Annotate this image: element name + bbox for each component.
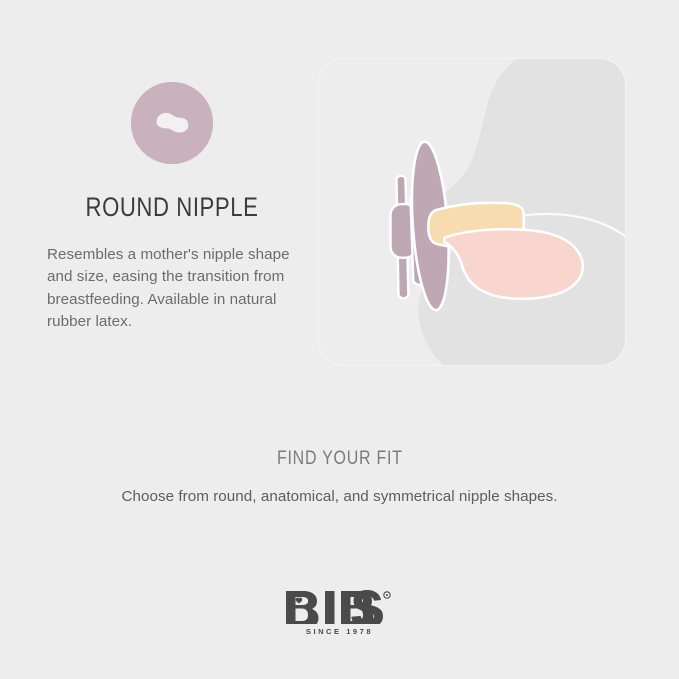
bibs-wordmark-icon bbox=[284, 588, 396, 624]
product-feature-infographic: ROUND NIPPLE Resembles a mother's nipple… bbox=[0, 0, 679, 679]
feature-title: ROUND NIPPLE bbox=[70, 192, 275, 223]
feature-column: ROUND NIPPLE Resembles a mother's nipple… bbox=[47, 82, 297, 333]
feature-badge-wrap bbox=[47, 82, 297, 164]
round-nipple-shape-icon bbox=[131, 82, 213, 164]
find-your-fit-section: FIND YOUR FIT Choose from round, anatomi… bbox=[0, 448, 679, 470]
brand-tagline: SINCE 1978 bbox=[306, 627, 373, 636]
find-your-fit-subtitle: Choose from round, anatomical, and symme… bbox=[0, 488, 679, 505]
find-your-fit-title: FIND YOUR FIT bbox=[277, 448, 403, 470]
illustration-panel bbox=[318, 58, 626, 366]
brand-logo: SINCE 1978 bbox=[0, 588, 679, 636]
feature-description: Resembles a mother's nipple shape and si… bbox=[47, 244, 297, 333]
